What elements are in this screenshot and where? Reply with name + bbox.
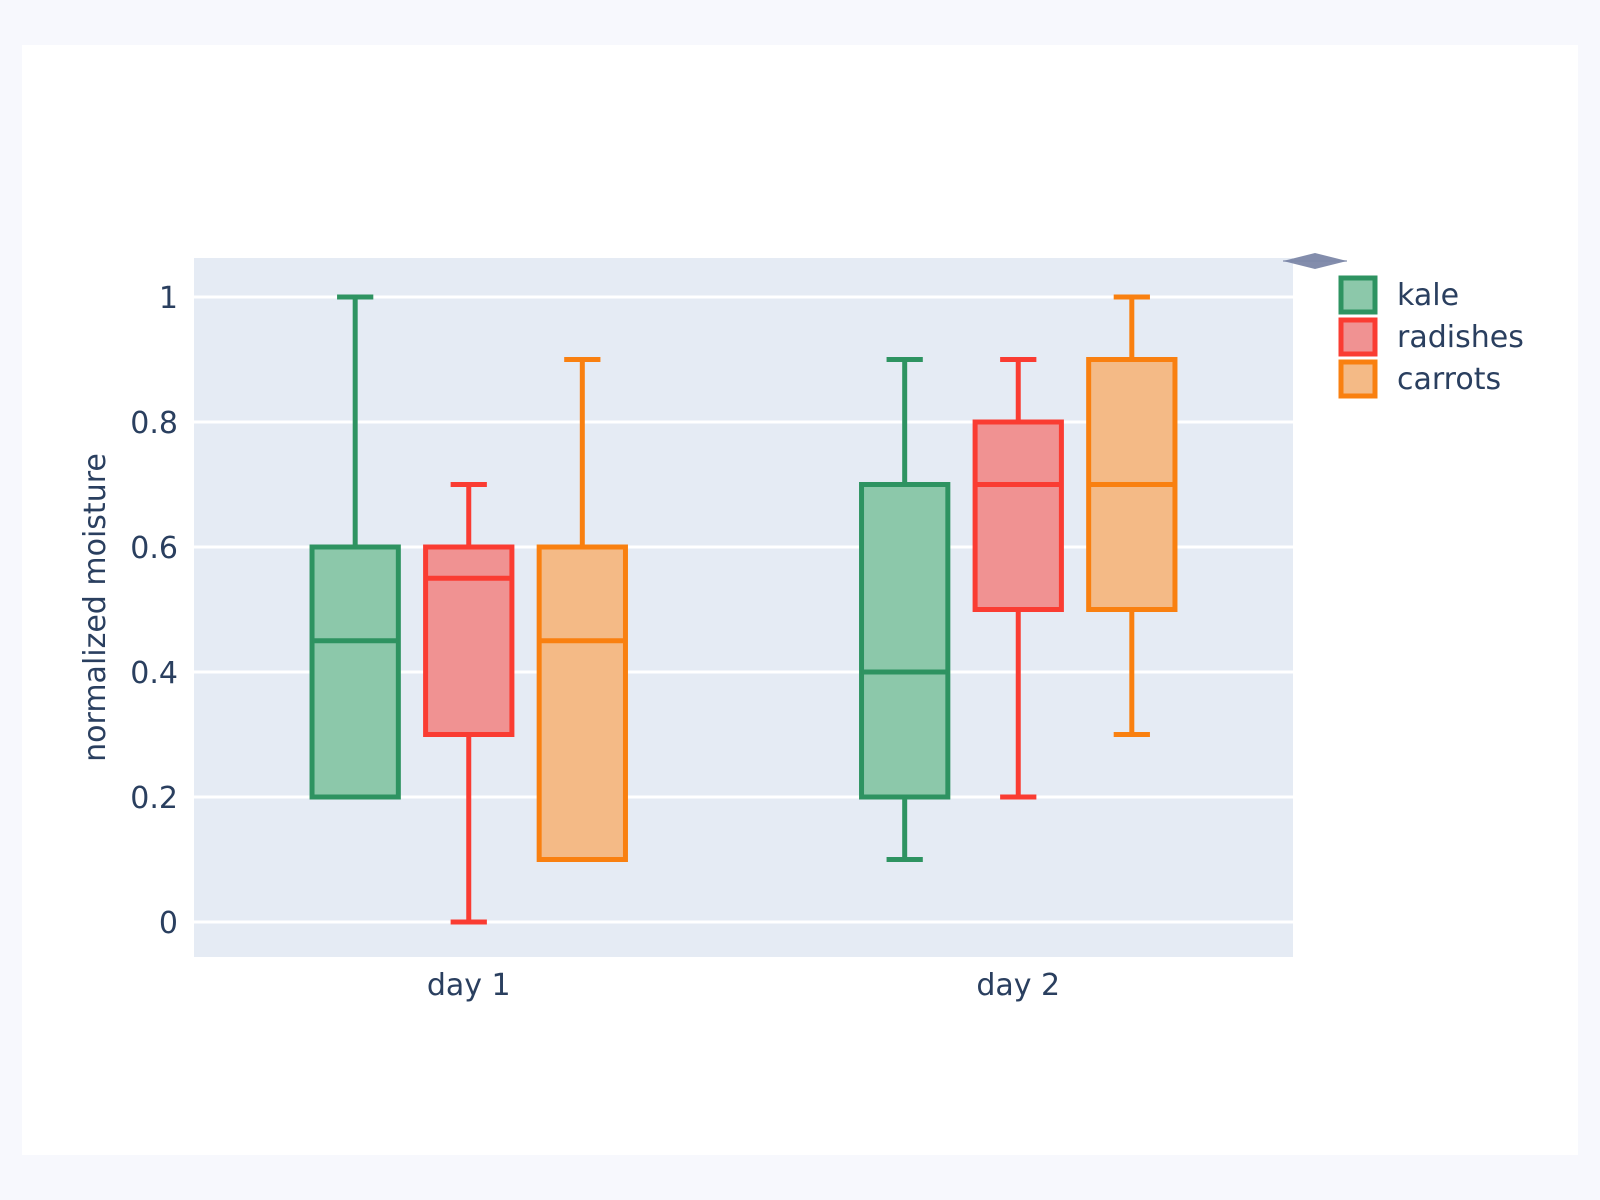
x-axis-tick-labels: day 1day 2	[427, 968, 1060, 1003]
x-tick-label: day 2	[976, 968, 1060, 1003]
legend[interactable]: kaleradishescarrots	[1341, 278, 1524, 397]
y-tick-label: 0.8	[130, 406, 178, 441]
box-iqr-rect[interactable]	[426, 547, 512, 735]
y-axis-title-text: normalized moisture	[78, 453, 113, 762]
box-iqr-rect[interactable]	[975, 422, 1061, 610]
y-tick-label: 0.2	[130, 781, 178, 816]
legend-label-kale: kale	[1397, 278, 1459, 313]
y-tick-label: 0	[159, 906, 178, 941]
legend-label-radishes: radishes	[1397, 320, 1524, 355]
legend-swatch-radishes[interactable]	[1341, 320, 1375, 354]
legend-item-radishes[interactable]: radishes	[1341, 320, 1524, 355]
legend-swatch-carrots[interactable]	[1341, 362, 1375, 396]
box-iqr-rect[interactable]	[539, 547, 625, 860]
y-tick-label: 1	[159, 281, 178, 316]
y-axis-title: normalized moisture	[78, 453, 113, 762]
legend-swatch-kale[interactable]	[1341, 278, 1375, 312]
legend-label-carrots: carrots	[1397, 362, 1501, 397]
screenshot-root: 00.20.40.60.81 day 1day 2 normalized moi…	[0, 0, 1600, 1200]
box-plot-chart[interactable]: 00.20.40.60.81 day 1day 2 normalized moi…	[0, 0, 1600, 1200]
box-iqr-rect[interactable]	[862, 485, 948, 798]
box-iqr-rect[interactable]	[312, 547, 398, 797]
y-tick-label: 0.4	[130, 656, 178, 691]
y-axis-tick-labels: 00.20.40.60.81	[130, 281, 178, 941]
legend-item-kale[interactable]: kale	[1341, 278, 1459, 313]
legend-item-carrots[interactable]: carrots	[1341, 362, 1501, 397]
y-tick-label: 0.6	[130, 531, 178, 566]
x-tick-label: day 1	[427, 968, 511, 1003]
